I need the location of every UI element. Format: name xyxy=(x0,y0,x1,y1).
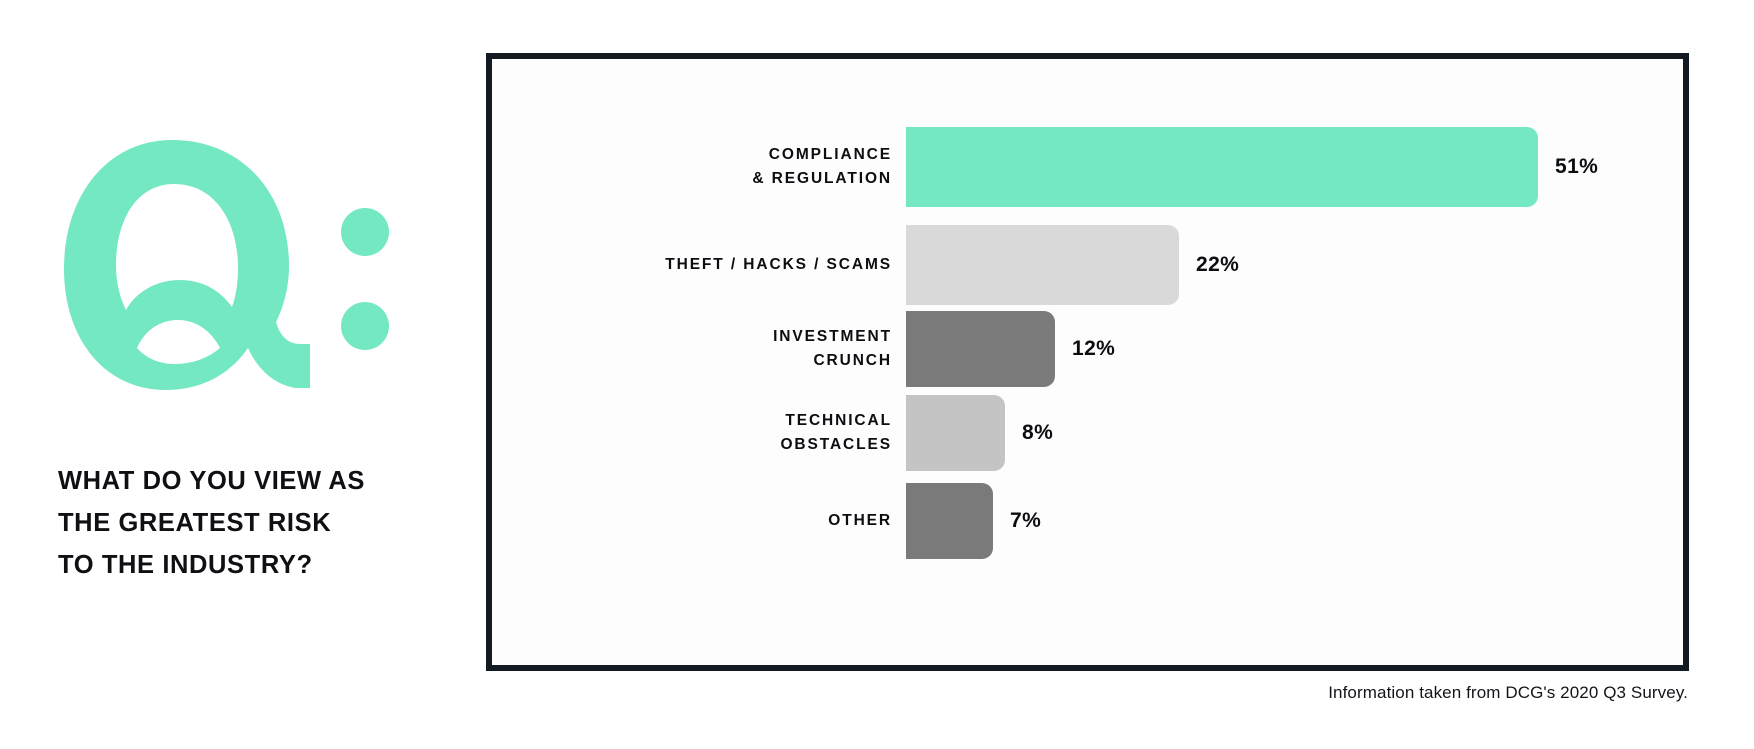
bar-value-label: 8% xyxy=(1022,421,1053,445)
bar-fill xyxy=(906,225,1179,305)
bar-track: OTHER7% xyxy=(906,483,1041,559)
intro-panel: WHAT DO YOU VIEW AS THE GREATEST RISK TO… xyxy=(0,0,486,749)
bar-fill xyxy=(906,311,1055,387)
page-title-line-1: WHAT DO YOU VIEW AS xyxy=(58,460,458,502)
bar-row: TECHNICAL OBSTACLES8% xyxy=(492,395,1683,471)
bar-track: TECHNICAL OBSTACLES8% xyxy=(906,395,1053,471)
bar-track: THEFT / HACKS / SCAMS22% xyxy=(906,225,1239,305)
bar-row: THEFT / HACKS / SCAMS22% xyxy=(492,225,1683,305)
bar-category-label: COMPLIANCE & REGULATION xyxy=(532,143,906,191)
page-title: WHAT DO YOU VIEW AS THE GREATEST RISK TO… xyxy=(58,460,458,586)
bar-value-label: 22% xyxy=(1196,253,1239,277)
page-title-line-3: TO THE INDUSTRY? xyxy=(58,544,458,586)
bar-fill xyxy=(906,483,993,559)
letter-q-glyph xyxy=(64,140,310,390)
bar-row: INVESTMENT CRUNCH12% xyxy=(492,311,1683,387)
bar-category-label: OTHER xyxy=(532,509,906,533)
bar-fill xyxy=(906,127,1538,207)
bar-value-label: 12% xyxy=(1072,337,1115,361)
bar-row: COMPLIANCE & REGULATION51% xyxy=(492,127,1683,207)
bar-category-label: TECHNICAL OBSTACLES xyxy=(532,409,906,457)
colon-dot-upper xyxy=(341,208,389,256)
q-colon-logo xyxy=(52,138,402,398)
bar-chart: COMPLIANCE & REGULATION51%THEFT / HACKS … xyxy=(492,59,1683,665)
bar-fill xyxy=(906,395,1005,471)
bar-category-label: INVESTMENT CRUNCH xyxy=(532,325,906,373)
colon-dot-lower xyxy=(341,302,389,350)
bar-track: INVESTMENT CRUNCH12% xyxy=(906,311,1115,387)
page-title-line-2: THE GREATEST RISK xyxy=(58,502,458,544)
chart-frame: COMPLIANCE & REGULATION51%THEFT / HACKS … xyxy=(486,53,1689,671)
bar-value-label: 51% xyxy=(1555,155,1598,179)
bar-value-label: 7% xyxy=(1010,509,1041,533)
bar-row: OTHER7% xyxy=(492,483,1683,559)
bar-track: COMPLIANCE & REGULATION51% xyxy=(906,127,1598,207)
source-note: Information taken from DCG's 2020 Q3 Sur… xyxy=(1328,683,1688,703)
bar-category-label: THEFT / HACKS / SCAMS xyxy=(532,253,906,277)
